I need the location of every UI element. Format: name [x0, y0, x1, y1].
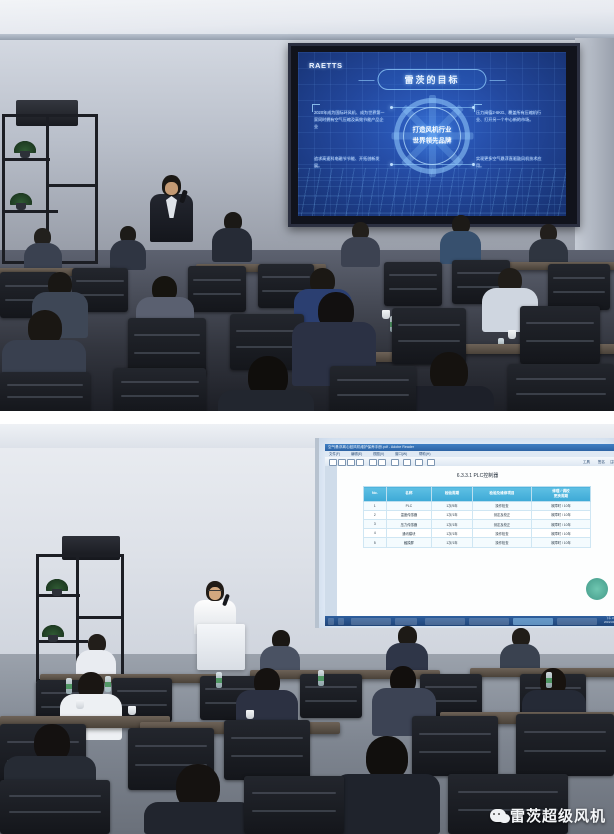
highlight-icon[interactable]: [427, 459, 435, 466]
th-name: 名称: [386, 487, 431, 502]
slide-bullet-top-left: 2020年成为国际环风机、成为世界第一家同时拥有空气压缩及高效节能产品企业: [314, 110, 386, 130]
document-heading: 6.3.3.1 PLC控制器: [457, 472, 498, 479]
cell-name: 温度传感器: [386, 510, 431, 519]
connector-dot-tl: [390, 106, 393, 109]
cell-no: 4: [364, 529, 387, 538]
comment-icon[interactable]: [415, 459, 423, 466]
photo-collage-page: RAETTS 雷茨的目标 2020年成为国际环风机、成为世界第一家同时拥有空气压…: [0, 0, 614, 834]
slide-bullet-top-right: 压力阀值2-6KG、覆盖所有压缩机行业、打开另一个中心新的市场。: [476, 110, 548, 124]
projection-screen: RAETTS 雷茨的目标 2020年成为国际环风机、成为世界第一家同时拥有空气压…: [288, 43, 580, 227]
slide-center-text: 打造风机行业 世界领先品牌: [396, 125, 468, 148]
menu-help[interactable]: 帮助(H): [419, 451, 431, 456]
th-items: 检验及维修项目: [472, 487, 531, 502]
taskbar-item-slides[interactable]: [557, 618, 597, 625]
chair: [0, 780, 110, 834]
table-row: 2 温度传感器 1次/1年 测定及校正 故障时 / 10年: [364, 510, 591, 519]
cell-no: 1: [364, 501, 387, 510]
watermark: 雷茨超级风机: [490, 805, 606, 826]
cell-replace: 故障时 / 10年: [531, 520, 590, 529]
company-seal-icon: [586, 578, 608, 600]
th-no: No.: [364, 487, 387, 502]
paper-cup: [76, 700, 84, 709]
chair: [520, 306, 600, 364]
cell-items: 测定及校正: [472, 510, 531, 519]
cell-name: 触摸屏: [386, 538, 431, 547]
chair: [300, 674, 362, 718]
paper-cup: [128, 706, 136, 715]
table-row: 1 PLC 1次/5年 操作检查 故障时 / 10年: [364, 501, 591, 510]
potted-plant-top-2: [10, 194, 32, 210]
table-row: 3 压力传感器 1次/1年 测定及校正 故障时 / 10年: [364, 520, 591, 529]
zoom-in-icon[interactable]: [378, 459, 386, 466]
audience-torso: [334, 774, 440, 834]
chair: [508, 364, 614, 411]
cell-items: 测定及校正: [472, 520, 531, 529]
cell-cycle: 1次/1年: [432, 520, 473, 529]
water-bottle: [318, 670, 324, 686]
wechat-icon: [490, 809, 506, 822]
conference-photo-bottom: 空气悬浮离心鼓风机维护保养手册.pdf - Adobe Reader 文件(F)…: [0, 424, 614, 834]
cell-name: PLC: [386, 501, 431, 510]
cell-items: 操作检查: [472, 501, 531, 510]
chair: [244, 776, 344, 834]
presentation-slide: RAETTS 雷茨的目标 2020年成为国际环风机、成为世界第一家同时拥有空气压…: [298, 52, 566, 216]
taskbar-item-pictures[interactable]: [395, 618, 417, 625]
chair: [548, 264, 610, 310]
th-cycle: 检验周期: [432, 487, 473, 502]
photo-divider: [0, 411, 614, 424]
cell-items: 操作检查: [472, 529, 531, 538]
taskbar-search-button[interactable]: [338, 618, 344, 625]
maintenance-table: No. 名称 检验周期 检验及维修项目 修理 / 调校 更换周期 1 PLC: [363, 486, 591, 548]
open-file-icon[interactable]: [329, 459, 337, 466]
toolbar-tools-label[interactable]: 工具: [583, 460, 590, 465]
taskbar-item-chrome[interactable]: [425, 618, 465, 625]
page-fit-icon[interactable]: [391, 459, 399, 466]
slide-title-frame: 雷茨的目标: [377, 69, 486, 90]
presenter-face-top: [165, 182, 178, 195]
gear-graphic-icon: 打造风机行业 世界领先品牌: [394, 98, 470, 174]
cell-no: 3: [364, 520, 387, 529]
chair: [330, 366, 416, 411]
chair: [412, 716, 498, 776]
raetts-logo: RAETTS: [309, 61, 343, 70]
audience-torso: [110, 240, 146, 270]
connector-dot-bl: [390, 163, 393, 166]
cell-replace: 故障时 / 10年: [531, 529, 590, 538]
paper-cup: [246, 710, 254, 719]
toolbar-comment-label[interactable]: 注释: [610, 460, 614, 465]
presenter-face-bottom: [209, 587, 221, 600]
chair: [384, 262, 442, 306]
windows-taskbar[interactable]: 下午 3:26 2019/10/25: [325, 616, 614, 626]
slide-bullet-bottom-right: 实现更多空气悬浮直驱鼓风机技术应用。: [476, 156, 548, 170]
table-header-row: No. 名称 检验周期 检验及维修项目 修理 / 调校 更换周期: [364, 487, 591, 502]
menu-view[interactable]: 视图(V): [373, 451, 384, 456]
slide-title: 雷茨的目标: [404, 73, 459, 86]
cell-cycle: 1次/1年: [432, 529, 473, 538]
table-row: 4 通讯模块 1次/1年 操作检查 故障时 / 10年: [364, 529, 591, 538]
rotate-icon[interactable]: [403, 459, 411, 466]
audience-torso: [212, 228, 252, 262]
projection-screen: 空气悬浮离心鼓风机维护保养手册.pdf - Adobe Reader 文件(F)…: [315, 438, 614, 628]
taskbar-item-active-pdf[interactable]: [513, 618, 553, 625]
watermark-text: 雷茨超级风机: [510, 805, 606, 826]
cell-cycle: 1次/1年: [432, 510, 473, 519]
zoom-out-icon[interactable]: [369, 459, 377, 466]
potted-plant-bottom-2: [42, 626, 64, 642]
menu-window[interactable]: 窗口(W): [395, 451, 407, 456]
chair: [114, 368, 206, 411]
audience-torso: [144, 802, 254, 834]
cell-cycle: 1次/1年: [432, 538, 473, 547]
taskbar-item-explorer[interactable]: [351, 618, 391, 625]
audience-torso: [341, 237, 380, 267]
save-icon[interactable]: [338, 459, 346, 466]
connector-dot-br: [472, 163, 475, 166]
email-icon[interactable]: [356, 459, 364, 466]
toolbar-sign-label[interactable]: 签名: [598, 460, 605, 465]
th-replace: 修理 / 调校 更换周期: [531, 487, 590, 502]
table-row: 5 触摸屏 1次/1年 操作检查 故障时 / 10年: [364, 538, 591, 547]
chair: [188, 266, 246, 312]
taskbar-start-button[interactable]: [328, 618, 334, 625]
ceiling: [0, 0, 614, 38]
paper-cup: [382, 310, 390, 319]
pdf-title-bar: 空气悬浮离心鼓风机维护保养手册.pdf - Adobe Reader: [325, 444, 614, 451]
chair: [516, 714, 614, 776]
cell-replace: 故障时 / 10年: [531, 501, 590, 510]
cell-name: 通讯模块: [386, 529, 431, 538]
cell-cycle: 1次/5年: [432, 501, 473, 510]
glasses-icon: [208, 590, 222, 593]
cell-no: 2: [364, 510, 387, 519]
conference-photo-top: RAETTS 雷茨的目标 2020年成为国际环风机、成为世界第一家同时拥有空气压…: [0, 0, 614, 411]
menu-file[interactable]: 文件(F): [329, 451, 340, 456]
pdf-page-content: 6.3.3.1 PLC控制器 No. 名称 检验周期 检验及维修项目 修理 / …: [337, 466, 614, 616]
cell-no: 5: [364, 538, 387, 547]
chair: [0, 372, 90, 411]
pdf-window-title: 空气悬浮离心鼓风机维护保养手册.pdf - Adobe Reader: [328, 445, 414, 450]
chair: [224, 720, 310, 780]
taskbar-clock[interactable]: 下午 3:26 2019/10/25: [604, 617, 614, 625]
taskbar-item-manual[interactable]: [469, 618, 509, 625]
potted-plant-top-1: [14, 142, 36, 158]
potted-plant-bottom-1: [46, 580, 68, 596]
water-bottle: [66, 678, 72, 694]
cell-replace: 故障时 / 10年: [531, 538, 590, 547]
cell-replace: 故障时 / 10年: [531, 510, 590, 519]
pdf-reader-window: 空气悬浮离心鼓风机维护保养手册.pdf - Adobe Reader 文件(F)…: [325, 444, 614, 626]
slide-bullet-bottom-left: 追求高速科电磁节节能、开拓创新发展。: [314, 156, 386, 170]
audience-torso: [218, 390, 314, 411]
water-bottle: [216, 672, 222, 688]
menu-edit[interactable]: 编辑(E): [351, 451, 362, 456]
cell-items: 操作检查: [472, 538, 531, 547]
water-bottle: [105, 676, 111, 692]
pdf-sidebar[interactable]: [325, 466, 337, 616]
paper-cup: [508, 330, 516, 339]
podium: [197, 624, 245, 670]
print-icon[interactable]: [347, 459, 355, 466]
water-bottle: [546, 672, 552, 688]
cell-name: 压力传感器: [386, 520, 431, 529]
